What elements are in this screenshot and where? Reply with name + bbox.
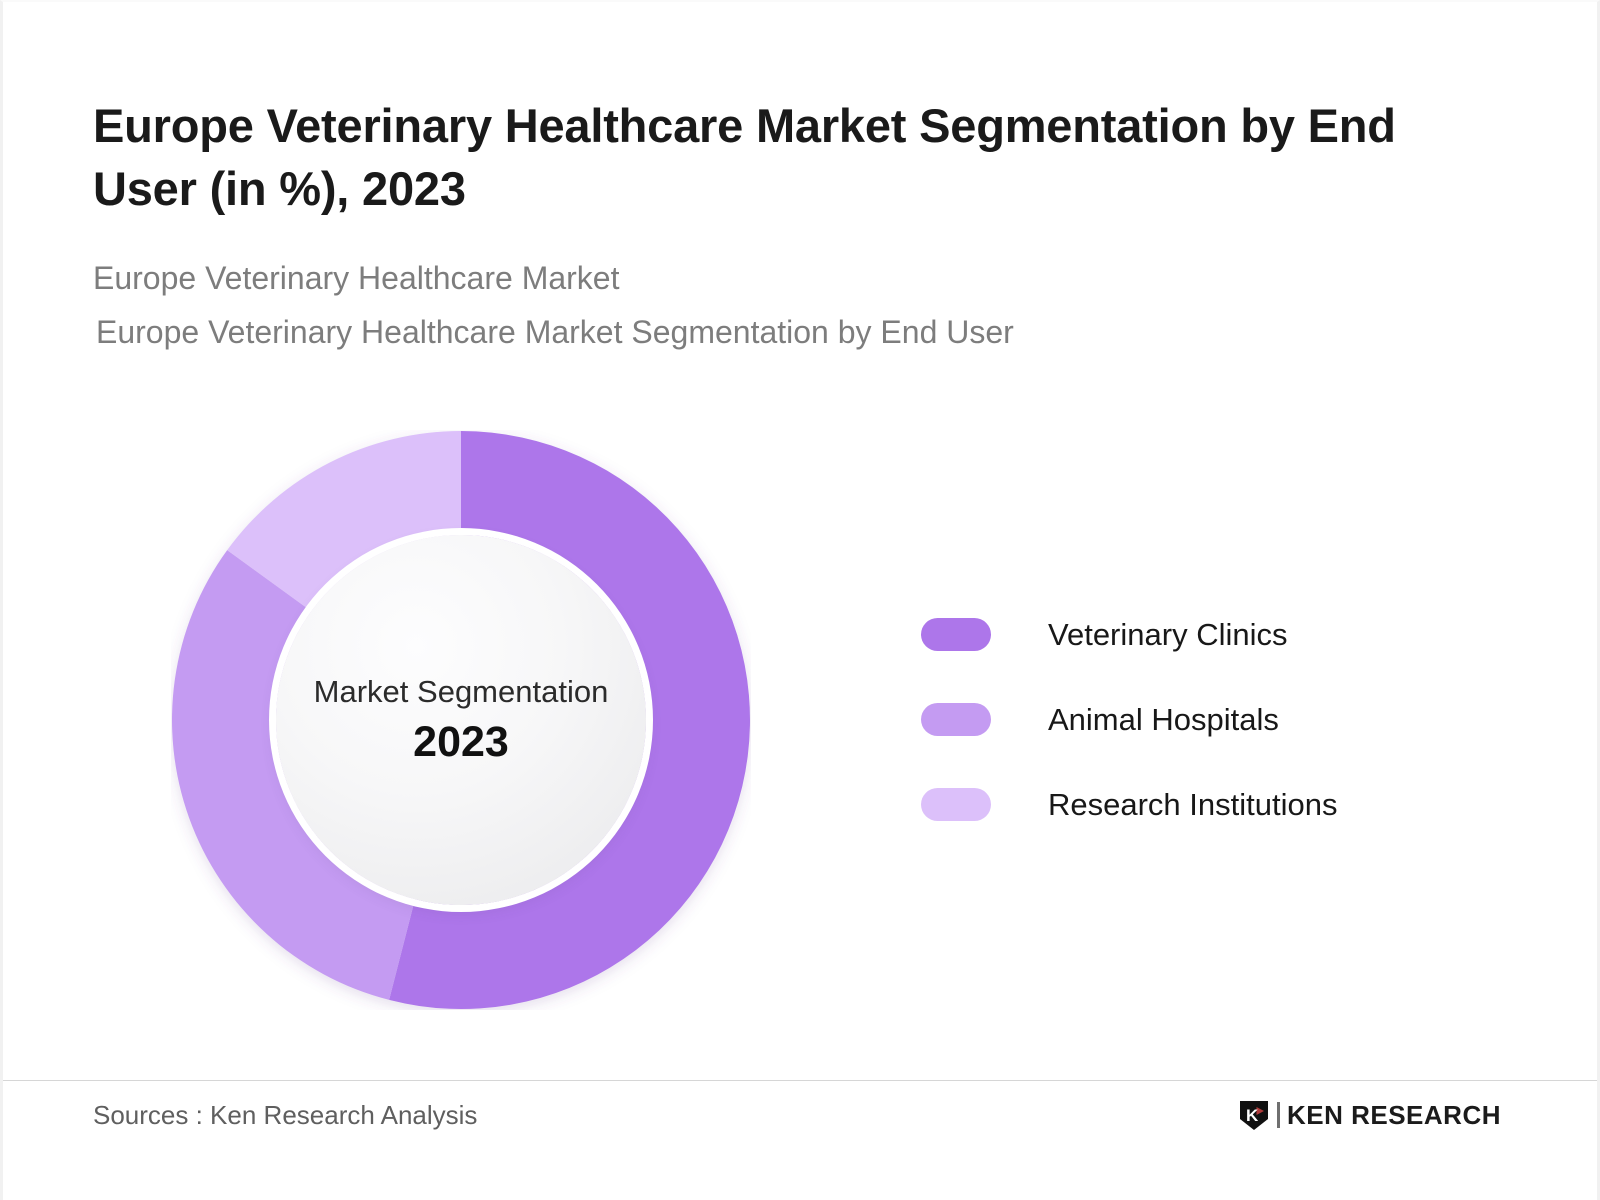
ken-research-logo: K KEN RESEARCH [1239,1098,1501,1132]
legend-item-research-institutions[interactable]: Research Institutions [921,762,1337,847]
legend-item-label: Research Institutions [1048,787,1337,823]
legend-item-animal-hospitals[interactable]: Animal Hospitals [921,677,1337,762]
legend-swatch-icon [921,703,991,736]
source-note: Sources : Ken Research Analysis [93,1100,477,1131]
chart-area: Market Segmentation 2023 Veterinary Clin… [3,402,1600,1052]
subtitle-line-1: Europe Veterinary Healthcare Market [93,252,1393,306]
logo-divider [1277,1102,1280,1128]
donut-center-hole: Market Segmentation 2023 [276,535,646,905]
legend-item-label: Animal Hospitals [1048,702,1279,738]
subtitle-block: Europe Veterinary Healthcare Market Euro… [93,252,1393,360]
legend-item-veterinary-clinics[interactable]: Veterinary Clinics [921,592,1337,677]
donut-chart: Market Segmentation 2023 [171,430,751,1010]
slide-canvas: Europe Veterinary Healthcare Market Segm… [0,0,1600,1200]
donut-center-value: 2023 [413,719,509,766]
legend-swatch-icon [921,788,991,821]
svg-text:K: K [1246,1106,1259,1125]
legend-swatch-icon [921,618,991,651]
legend-item-label: Veterinary Clinics [1048,617,1287,653]
donut-center-label: Market Segmentation [314,673,609,710]
subtitle-line-2: Europe Veterinary Healthcare Market Segm… [93,306,1393,360]
logo-wordmark: KEN RESEARCH [1287,1100,1501,1131]
page-title: Europe Veterinary Healthcare Market Segm… [93,95,1463,219]
footer-divider [3,1080,1600,1081]
chart-legend: Veterinary Clinics Animal Hospitals Rese… [921,592,1337,847]
ken-research-k-shield-icon: K [1239,1100,1269,1131]
